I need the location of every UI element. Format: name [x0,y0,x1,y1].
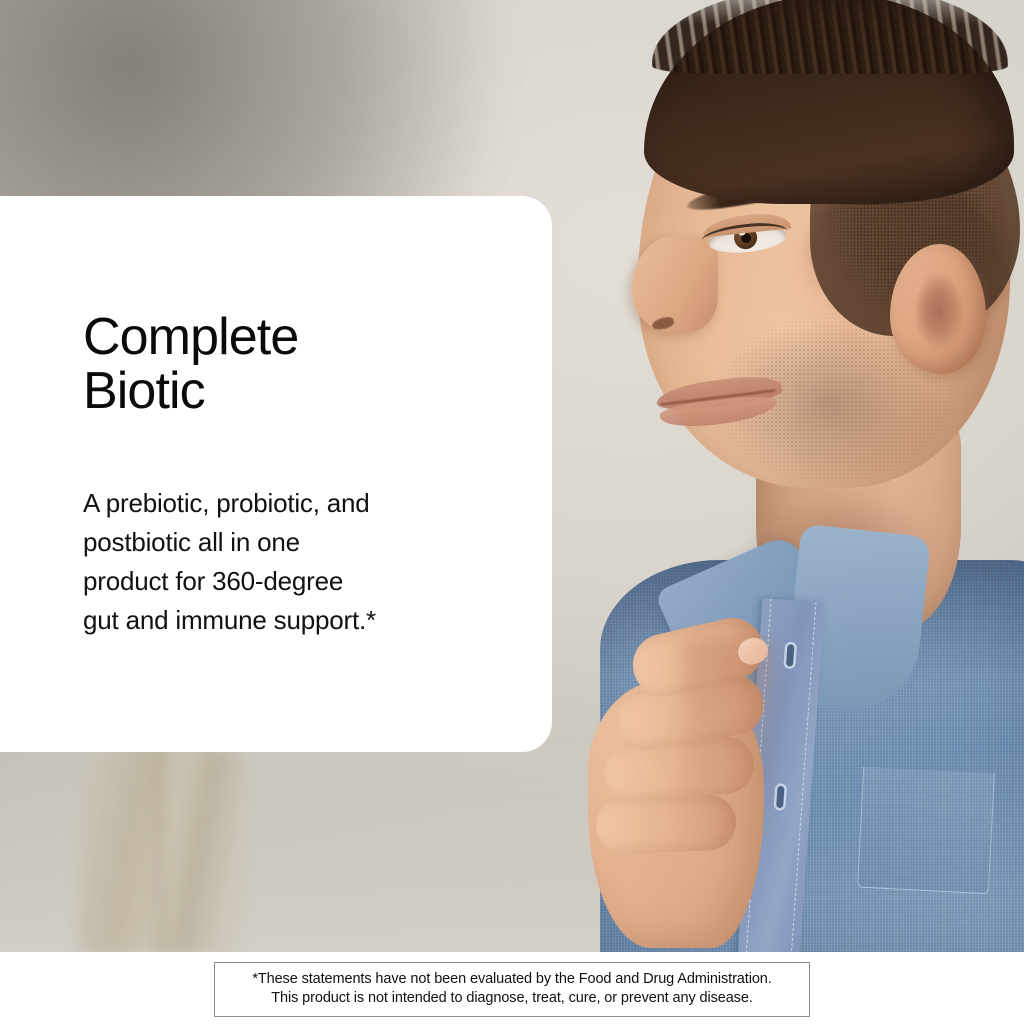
fda-disclaimer-line-2: This product is not intended to diagnose… [225,989,799,1008]
hair-strands [652,0,1008,74]
footer-band: *These statements have not been evaluate… [0,952,1024,1024]
product-description: A prebiotic, probiotic, and postbiotic a… [83,418,493,640]
text-card-content: Complete Biotic A prebiotic, probiotic, … [83,310,493,640]
curtain-stripes [78,744,250,952]
text-card: Complete Biotic A prebiotic, probiotic, … [0,196,552,752]
fda-disclaimer-box: *These statements have not been evaluate… [214,962,810,1017]
male-model [560,0,1024,952]
curtain-fold [154,744,164,952]
nose [632,236,718,332]
product-title: Complete Biotic [83,310,493,418]
fda-disclaimer-line-1: *These statements have not been evaluate… [225,970,799,989]
knuckle-shadow [684,640,774,850]
blurred-curtain [78,744,250,952]
hand [588,620,803,950]
product-marketing-image: Complete Biotic A prebiotic, probiotic, … [0,0,1024,1024]
shirt-chest-pocket [857,767,995,895]
